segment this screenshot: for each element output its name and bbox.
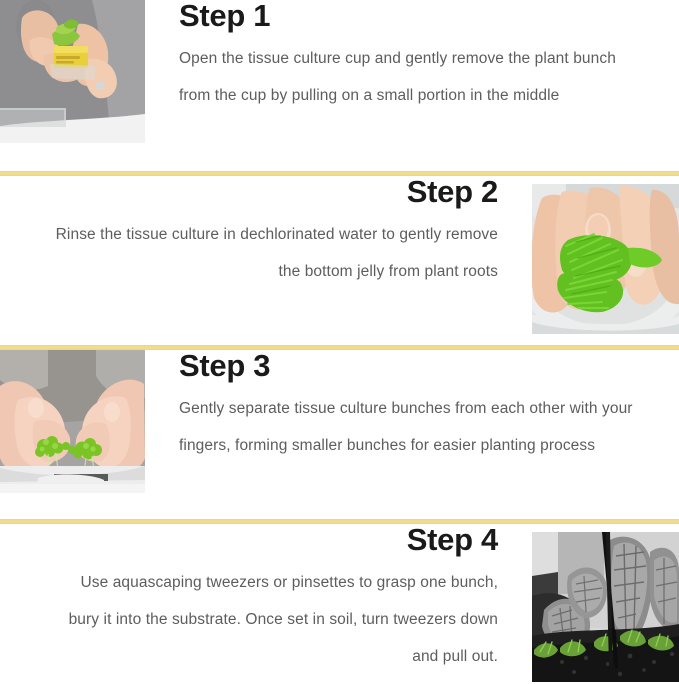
step-4-photo-art: [532, 532, 679, 682]
step-2-title: Step 2: [0, 176, 498, 209]
step-4-text: Step 4 Use aquascaping tweezers or pinse…: [0, 524, 532, 675]
step-block-3: Step 3 Gently separate tissue culture bu…: [0, 350, 679, 510]
step-2-photo: [532, 184, 679, 334]
step-3-text: Step 3 Gently separate tissue culture bu…: [145, 350, 679, 464]
spacer-3: [0, 510, 679, 519]
spacer-2: [0, 336, 679, 345]
instruction-sheet: Step 1 Open the tissue culture cup and g…: [0, 0, 679, 684]
step-3-body: Gently separate tissue culture bunches f…: [179, 390, 634, 464]
step-4-title: Step 4: [0, 524, 498, 557]
step-4-photo: [532, 532, 679, 682]
spacer-1: [0, 160, 679, 171]
step-block-4: Step 4 Use aquascaping tweezers or pinse…: [0, 524, 679, 684]
step-1-title: Step 1: [179, 0, 679, 33]
step-2-text: Step 2 Rinse the tissue culture in dechl…: [0, 176, 532, 290]
step-3-photo-art: [0, 350, 145, 493]
step-block-2: Step 2 Rinse the tissue culture in dechl…: [0, 176, 679, 336]
step-3-title: Step 3: [179, 350, 679, 383]
step-4-body: Use aquascaping tweezers or pinsettes to…: [46, 564, 498, 675]
step-1-photo: [0, 0, 145, 143]
step-2-photo-art: [532, 184, 679, 334]
step-1-body: Open the tissue culture cup and gently r…: [179, 40, 634, 114]
step-1-text: Step 1 Open the tissue culture cup and g…: [145, 0, 679, 114]
step-2-body: Rinse the tissue culture in dechlorinate…: [46, 216, 498, 290]
step-block-1: Step 1 Open the tissue culture cup and g…: [0, 0, 679, 160]
step-1-photo-art: [0, 0, 145, 143]
step-3-photo: [0, 350, 145, 493]
